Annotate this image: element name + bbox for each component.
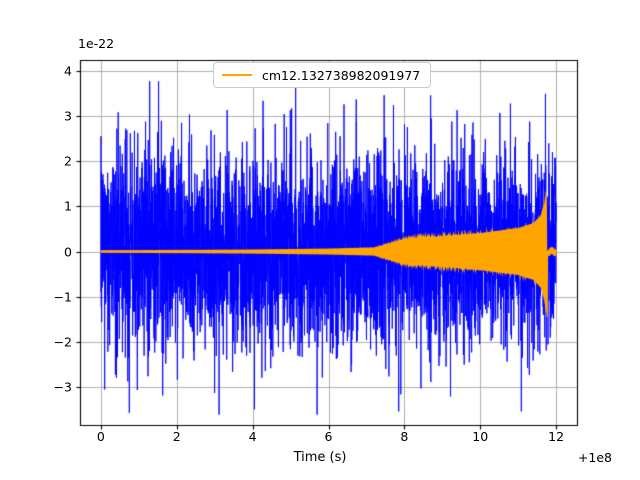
y-tick-label-1: −2 — [44, 334, 72, 349]
x-tick-label-4: 8 — [400, 429, 408, 444]
legend-label-chirp: cm12.132738982091977 — [262, 68, 420, 83]
x-tick-label-6: 12 — [548, 429, 564, 444]
x-tick-label-0: 0 — [97, 429, 105, 444]
x-tick-label-2: 4 — [249, 429, 257, 444]
y-tick-label-0: −3 — [44, 379, 72, 394]
legend[interactable]: cm12.132738982091977 — [213, 62, 431, 88]
legend-color-swatch-chirp — [222, 74, 252, 76]
y-tick-label-2: −1 — [44, 289, 72, 304]
y-tick-label-3: 0 — [44, 244, 72, 259]
y-tick-label-4: 1 — [44, 199, 72, 214]
matplotlib-figure: 1e-22 +1e8 Time (s) 024681012 −3−2−10123… — [0, 0, 640, 480]
x-tick-label-1: 2 — [173, 429, 181, 444]
x-tick-label-3: 6 — [325, 429, 333, 444]
x-tick-label-5: 10 — [472, 429, 488, 444]
y-tick-label-6: 3 — [44, 109, 72, 124]
y-tick-label-7: 4 — [44, 64, 72, 79]
y-tick-label-5: 2 — [44, 154, 72, 169]
